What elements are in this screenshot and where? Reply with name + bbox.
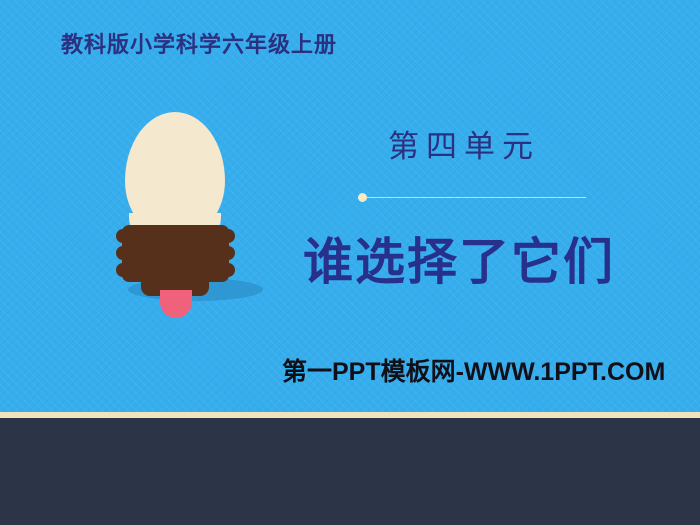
bulb-glass xyxy=(125,112,225,235)
divider-rule xyxy=(367,197,586,198)
bulb-base-ridge xyxy=(116,263,130,277)
title-divider xyxy=(358,193,586,202)
unit-label: 第四单元 xyxy=(388,121,540,166)
slide-footer: “我的人生哲学是工作，我要揭示大自然的奥妙，为人类造福。” —爱迪生 科 xyxy=(0,418,700,525)
slide-title: 谁选择了它们 xyxy=(303,222,615,294)
site-watermark: 第一PPT模板网-WWW.1PPT.COM xyxy=(282,352,665,388)
presentation-slide: 教科版小学科学六年级上册 第四单元 谁选择了它们 第一PPT模板网-WWW.1P… xyxy=(0,0,700,525)
light-bulb-illustration xyxy=(104,112,282,317)
bulb-base-ridge xyxy=(116,229,130,243)
bulb-contact-tip xyxy=(160,290,192,318)
bulb-base-ridge xyxy=(221,263,235,277)
bulb-base-ridge xyxy=(221,246,235,260)
course-header: 教科版小学科学六年级上册 xyxy=(61,27,337,59)
bulb-base-ridge xyxy=(221,229,235,243)
divider-dot-icon xyxy=(358,193,367,202)
bulb-base-ridge xyxy=(116,246,130,260)
